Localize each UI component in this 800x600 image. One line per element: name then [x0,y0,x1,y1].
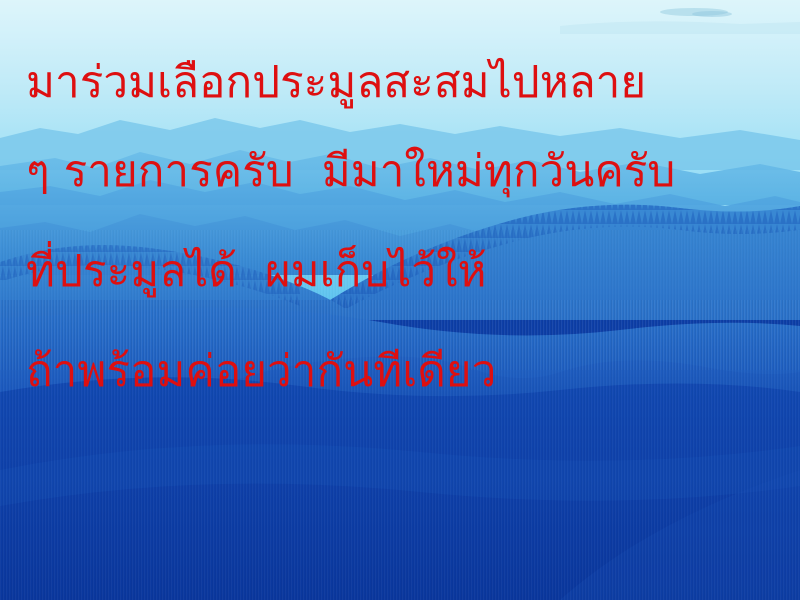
mountain-landscape-background [0,0,800,600]
distant-haze-band [560,21,800,34]
midground-streak-texture [0,230,800,370]
cloud-wisp-2 [692,11,732,17]
image-canvas: มาร่วมเลือกประมูลสะสมไปหลาย ๆ รายการครับ… [0,0,800,600]
